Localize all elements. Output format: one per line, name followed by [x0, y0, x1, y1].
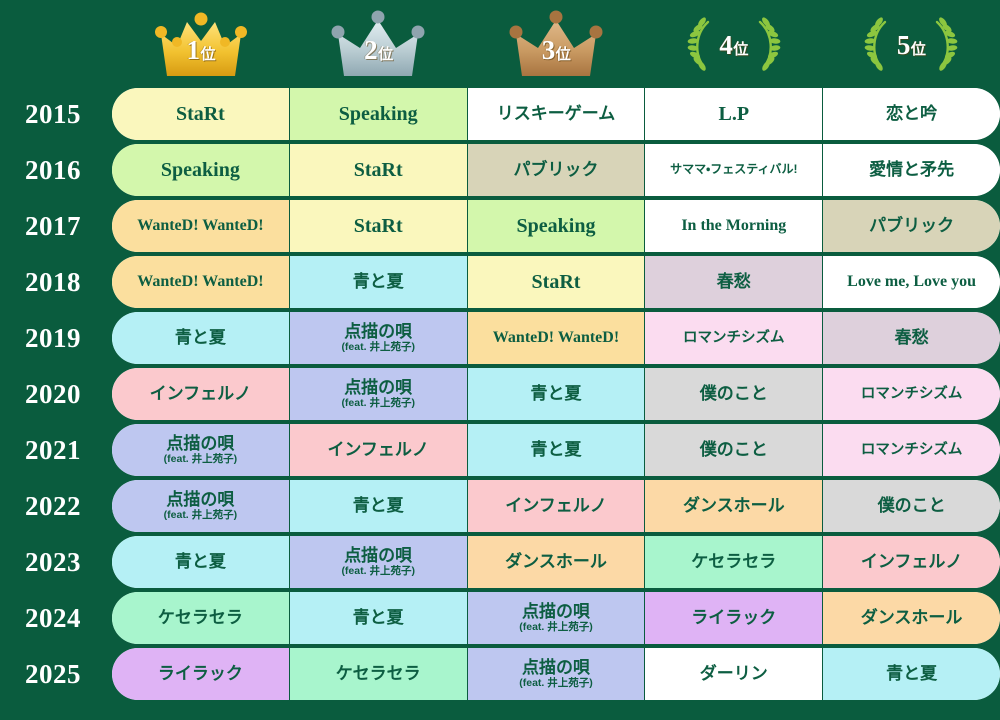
song-title: ダーリン — [700, 664, 768, 683]
song-title: StaRt — [354, 159, 403, 181]
rank-cell-5[interactable]: 愛情と矛先 — [823, 144, 1000, 196]
song-title: 僕のこと — [700, 440, 768, 459]
rank-cell-3[interactable]: 点描の唄(feat. 井上苑子) — [468, 592, 646, 644]
song-title: 点描の唄 — [166, 434, 234, 453]
rank-cells: StaRtSpeakingリスキーゲームL.P恋と吟 — [112, 88, 1000, 140]
rank-cell-3[interactable]: ダンスホール — [468, 536, 646, 588]
song-title: 青と夏 — [353, 496, 404, 515]
song-title: 点描の唄 — [344, 322, 412, 341]
year-label: 2015 — [0, 88, 112, 140]
rank-cell-3[interactable]: StaRt — [468, 256, 646, 308]
rank-cell-1[interactable]: ライラック — [112, 648, 290, 700]
song-subtitle: (feat. 井上苑子) — [341, 398, 415, 410]
year-label: 2017 — [0, 200, 112, 252]
year-label: 2019 — [0, 312, 112, 364]
song-title: WanteD! WanteD! — [137, 273, 263, 291]
rank-cell-2[interactable]: StaRt — [290, 200, 468, 252]
rank-header-1: 1位 — [112, 0, 290, 88]
rank-cell-4[interactable]: 僕のこと — [645, 368, 823, 420]
year-label: 2020 — [0, 368, 112, 420]
song-title: WanteD! WanteD! — [137, 217, 263, 235]
rank-header-3: 3位 — [467, 0, 645, 88]
song-title: ライラック — [691, 608, 776, 627]
song-title: 青と夏 — [353, 608, 404, 627]
rank-cell-4[interactable]: サママ・フェスティバル! — [645, 144, 823, 196]
rank-cell-5[interactable]: ロマンチシズム — [823, 424, 1000, 476]
rank-cell-2[interactable]: Speaking — [290, 88, 468, 140]
rank-header-5: 5位 — [822, 0, 1000, 88]
song-title: 点描の唄 — [166, 490, 234, 509]
rank-cell-3[interactable]: リスキーゲーム — [468, 88, 646, 140]
song-title: StaRt — [354, 215, 403, 237]
rank-number: 5 — [897, 30, 910, 60]
rank-number: 2 — [364, 35, 377, 65]
rank-cells: ケセラセラ青と夏点描の唄(feat. 井上苑子)ライラックダンスホール — [112, 592, 1000, 644]
rank-cell-5[interactable]: パブリック — [823, 200, 1000, 252]
song-title: ケセラセラ — [158, 608, 243, 627]
song-title: 点描の唄 — [522, 658, 590, 677]
song-subtitle: (feat. 井上苑子) — [341, 342, 415, 354]
rank-cell-5[interactable]: インフェルノ — [823, 536, 1000, 588]
song-title: WanteD! WanteD! — [493, 329, 619, 347]
ranking-board: 1位2位3位4位5位 2015StaRtSpeakingリスキーゲームL.P恋と… — [0, 0, 1000, 720]
song-title: ロマンチシズム — [861, 386, 963, 402]
rank-cell-5[interactable]: 青と夏 — [823, 648, 1000, 700]
song-title: ロマンチシズム — [683, 330, 785, 346]
rank-unit: 位 — [378, 47, 393, 63]
rank-cell-2[interactable]: 青と夏 — [290, 592, 468, 644]
rank-cell-3[interactable]: Speaking — [468, 200, 646, 252]
song-title: ケセラセラ — [691, 552, 776, 571]
rank-cell-1[interactable]: 青と夏 — [112, 312, 290, 364]
rank-cell-4[interactable]: 春愁 — [645, 256, 823, 308]
rank-cell-1[interactable]: StaRt — [112, 88, 290, 140]
rank-cell-1[interactable]: 青と夏 — [112, 536, 290, 588]
table-row: 2021点描の唄(feat. 井上苑子)インフェルノ青と夏僕のことロマンチシズム — [0, 424, 1000, 476]
song-title: 青と夏 — [530, 440, 581, 459]
rank-cell-1[interactable]: WanteD! WanteD! — [112, 256, 290, 308]
song-title: 点描の唄 — [344, 546, 412, 565]
rank-header-2: 2位 — [290, 0, 468, 88]
song-title: インフェルノ — [327, 440, 429, 459]
song-title: Speaking — [339, 103, 418, 125]
rank-cell-3[interactable]: インフェルノ — [468, 480, 646, 532]
rank-cell-4[interactable]: In the Morning — [645, 200, 823, 252]
rank-unit: 位 — [556, 47, 571, 63]
rank-cell-2[interactable]: 点描の唄(feat. 井上苑子) — [290, 536, 468, 588]
song-subtitle: (feat. 井上苑子) — [164, 510, 238, 522]
rank-cells: 青と夏点描の唄(feat. 井上苑子)WanteD! WanteD!ロマンチシズ… — [112, 312, 1000, 364]
rank-label-1: 1位 — [187, 37, 216, 64]
rank-cell-2[interactable]: ケセラセラ — [290, 648, 468, 700]
rank-cell-3[interactable]: 青と夏 — [468, 368, 646, 420]
laurel-wreath-icon: 4位 — [686, 8, 782, 80]
rank-number: 1 — [187, 35, 200, 65]
table-row: 2017WanteD! WanteD!StaRtSpeakingIn the M… — [0, 200, 1000, 252]
song-title: ケセラセラ — [336, 664, 421, 683]
song-title: In the Morning — [681, 217, 786, 235]
rank-cells: WanteD! WanteD!StaRtSpeakingIn the Morni… — [112, 200, 1000, 252]
ranking-table-body: 2015StaRtSpeakingリスキーゲームL.P恋と吟2016Speaki… — [0, 88, 1000, 704]
table-row: 2025ライラックケセラセラ点描の唄(feat. 井上苑子)ダーリン青と夏 — [0, 648, 1000, 700]
rank-cell-5[interactable]: Love me, Love you — [823, 256, 1000, 308]
song-title: 春愁 — [895, 328, 929, 347]
song-title: 青と夏 — [175, 328, 226, 347]
rank-cell-1[interactable]: WanteD! WanteD! — [112, 200, 290, 252]
rank-cell-5[interactable]: ダンスホール — [823, 592, 1000, 644]
rank-cell-4[interactable]: ダーリン — [645, 648, 823, 700]
rank-cell-1[interactable]: 点描の唄(feat. 井上苑子) — [112, 424, 290, 476]
rank-cell-3[interactable]: 点描の唄(feat. 井上苑子) — [468, 648, 646, 700]
laurel-wreath-icon: 5位 — [863, 8, 959, 80]
song-title: リスキーゲーム — [497, 104, 616, 123]
rank-cell-4[interactable]: ダンスホール — [645, 480, 823, 532]
rank-cell-2[interactable]: インフェルノ — [290, 424, 468, 476]
song-subtitle: (feat. 井上苑子) — [164, 454, 238, 466]
song-title: 愛情と矛先 — [869, 160, 954, 179]
rank-cell-2[interactable]: 青と夏 — [290, 480, 468, 532]
rank-cell-2[interactable]: 青と夏 — [290, 256, 468, 308]
song-title: パブリック — [513, 160, 598, 179]
song-title: サママ・フェスティバル! — [670, 163, 797, 176]
song-title: L.P — [719, 103, 750, 125]
rank-cell-3[interactable]: パブリック — [468, 144, 646, 196]
song-title: ダンスホール — [683, 496, 785, 515]
song-title: ダンスホール — [861, 608, 963, 627]
song-title: 僕のこと — [700, 384, 768, 403]
song-title: Speaking — [161, 159, 240, 181]
song-title: インフェルノ — [861, 552, 963, 571]
rank-cell-1[interactable]: Speaking — [112, 144, 290, 196]
rank-header-row: 1位2位3位4位5位 — [0, 0, 1000, 88]
bronze-crown-icon: 3位 — [508, 8, 604, 80]
rank-cell-4[interactable]: ロマンチシズム — [645, 312, 823, 364]
song-title: 恋と吟 — [886, 104, 937, 123]
song-title: 青と夏 — [530, 384, 581, 403]
rank-cells: SpeakingStaRtパブリックサママ・フェスティバル!愛情と矛先 — [112, 144, 1000, 196]
rank-cell-4[interactable]: ライラック — [645, 592, 823, 644]
song-title: インフェルノ — [150, 384, 252, 403]
song-subtitle: (feat. 井上苑子) — [519, 622, 593, 634]
rank-cell-3[interactable]: WanteD! WanteD! — [468, 312, 646, 364]
rank-cell-2[interactable]: StaRt — [290, 144, 468, 196]
rank-cell-5[interactable]: 僕のこと — [823, 480, 1000, 532]
year-label: 2022 — [0, 480, 112, 532]
song-title: StaRt — [176, 103, 225, 125]
table-row: 2024ケセラセラ青と夏点描の唄(feat. 井上苑子)ライラックダンスホール — [0, 592, 1000, 644]
table-row: 2019青と夏点描の唄(feat. 井上苑子)WanteD! WanteD!ロマ… — [0, 312, 1000, 364]
rank-cells: インフェルノ点描の唄(feat. 井上苑子)青と夏僕のことロマンチシズム — [112, 368, 1000, 420]
rank-cells: WanteD! WanteD!青と夏StaRt春愁Love me, Love y… — [112, 256, 1000, 308]
rank-number: 4 — [719, 30, 732, 60]
song-subtitle: (feat. 井上苑子) — [341, 566, 415, 578]
silver-crown-icon: 2位 — [330, 8, 426, 80]
rank-label-5: 5位 — [897, 32, 926, 59]
table-row: 2018WanteD! WanteD!青と夏StaRt春愁Love me, Lo… — [0, 256, 1000, 308]
year-label: 2023 — [0, 536, 112, 588]
rank-number: 3 — [542, 35, 555, 65]
rank-cell-1[interactable]: 点描の唄(feat. 井上苑子) — [112, 480, 290, 532]
song-title: Speaking — [517, 215, 596, 237]
rank-cells: 青と夏点描の唄(feat. 井上苑子)ダンスホールケセラセラインフェルノ — [112, 536, 1000, 588]
rank-cell-1[interactable]: インフェルノ — [112, 368, 290, 420]
rank-cells: 点描の唄(feat. 井上苑子)インフェルノ青と夏僕のことロマンチシズム — [112, 424, 1000, 476]
song-title: Love me, Love you — [847, 273, 976, 291]
song-title: 青と夏 — [175, 552, 226, 571]
table-row: 2023青と夏点描の唄(feat. 井上苑子)ダンスホールケセラセラインフェルノ — [0, 536, 1000, 588]
table-row: 2020インフェルノ点描の唄(feat. 井上苑子)青と夏僕のことロマンチシズム — [0, 368, 1000, 420]
song-title: ライラック — [158, 664, 243, 683]
rank-cell-2[interactable]: 点描の唄(feat. 井上苑子) — [290, 312, 468, 364]
year-label: 2016 — [0, 144, 112, 196]
year-label: 2024 — [0, 592, 112, 644]
table-row: 2015StaRtSpeakingリスキーゲームL.P恋と吟 — [0, 88, 1000, 140]
table-row: 2016SpeakingStaRtパブリックサママ・フェスティバル!愛情と矛先 — [0, 144, 1000, 196]
song-title: パブリック — [869, 216, 954, 235]
song-title: 点描の唄 — [344, 378, 412, 397]
year-label: 2018 — [0, 256, 112, 308]
song-title: 青と夏 — [353, 272, 404, 291]
gold-crown-icon: 1位 — [153, 8, 249, 80]
rank-unit: 位 — [911, 42, 926, 58]
table-row: 2022点描の唄(feat. 井上苑子)青と夏インフェルノダンスホール僕のこと — [0, 480, 1000, 532]
rank-unit: 位 — [733, 42, 748, 58]
rank-label-3: 3位 — [542, 37, 571, 64]
rank-cell-1[interactable]: ケセラセラ — [112, 592, 290, 644]
rank-cells: ライラックケセラセラ点描の唄(feat. 井上苑子)ダーリン青と夏 — [112, 648, 1000, 700]
song-title: 青と夏 — [886, 664, 937, 683]
rank-cell-4[interactable]: L.P — [645, 88, 823, 140]
rank-cell-5[interactable]: 春愁 — [823, 312, 1000, 364]
song-title: 僕のこと — [878, 496, 946, 515]
song-title: 春愁 — [717, 272, 751, 291]
song-title: StaRt — [532, 271, 581, 293]
rank-cells: 点描の唄(feat. 井上苑子)青と夏インフェルノダンスホール僕のこと — [112, 480, 1000, 532]
year-label: 2025 — [0, 648, 112, 700]
rank-cell-5[interactable]: ロマンチシズム — [823, 368, 1000, 420]
song-title: インフェルノ — [505, 496, 607, 515]
rank-cell-5[interactable]: 恋と吟 — [823, 88, 1000, 140]
rank-header-4: 4位 — [645, 0, 823, 88]
rank-cell-4[interactable]: 僕のこと — [645, 424, 823, 476]
rank-cell-4[interactable]: ケセラセラ — [645, 536, 823, 588]
song-subtitle: (feat. 井上苑子) — [519, 678, 593, 690]
song-title: ロマンチシズム — [861, 442, 963, 458]
rank-cell-3[interactable]: 青と夏 — [468, 424, 646, 476]
rank-cell-2[interactable]: 点描の唄(feat. 井上苑子) — [290, 368, 468, 420]
song-title: 点描の唄 — [522, 602, 590, 621]
year-label: 2021 — [0, 424, 112, 476]
rank-unit: 位 — [201, 47, 216, 63]
rank-label-2: 2位 — [364, 37, 393, 64]
song-title: ダンスホール — [505, 552, 607, 571]
rank-label-4: 4位 — [719, 32, 748, 59]
